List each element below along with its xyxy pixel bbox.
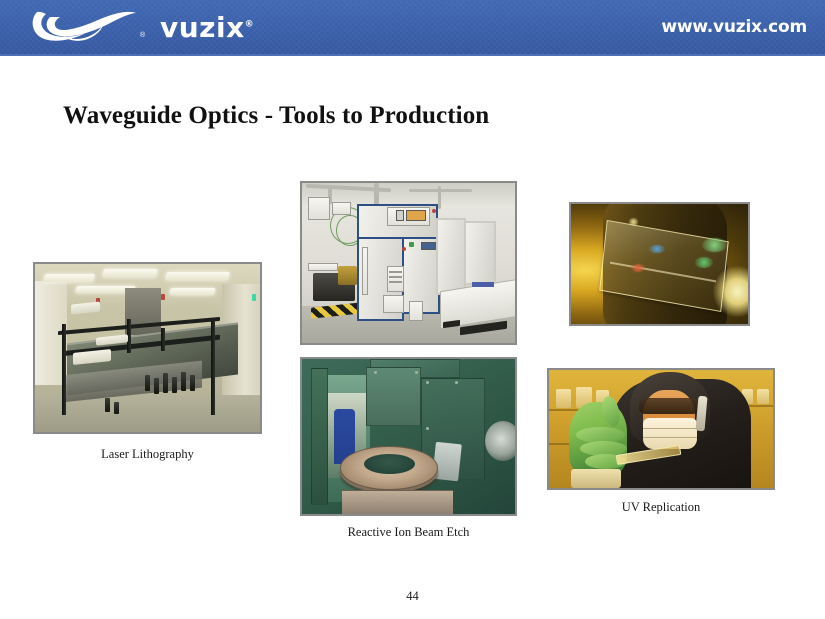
vuzix-wordmark-text: vuzix	[160, 11, 245, 44]
vuzix-swoosh-icon	[28, 7, 140, 49]
photo-ribe-chamber	[300, 357, 517, 516]
wordmark-registered-icon: ®	[245, 20, 255, 30]
photo-waveguide-plate	[569, 202, 750, 326]
photo-uv-technician	[547, 368, 775, 490]
page-number: 44	[0, 589, 825, 604]
photo-laser-lithography	[33, 262, 262, 434]
caption-uv-replication: UV Replication	[547, 500, 775, 515]
website-url[interactable]: www.vuzix.com	[661, 17, 807, 37]
vuzix-wordmark: vuzix®	[160, 14, 254, 42]
photo-ion-beam-equipment	[300, 181, 517, 345]
logo-mark-registered-icon: ®	[140, 32, 145, 39]
caption-reactive-ion-beam-etch: Reactive Ion Beam Etch	[300, 525, 517, 540]
presentation-slide: ® vuzix® www.vuzix.com Waveguide Optics …	[0, 0, 825, 619]
caption-laser-lithography: Laser Lithography	[33, 447, 262, 462]
vuzix-logo[interactable]: ® vuzix®	[28, 6, 278, 50]
slide-title: Waveguide Optics - Tools to Production	[63, 102, 489, 130]
header-bottom-rule	[0, 54, 825, 56]
